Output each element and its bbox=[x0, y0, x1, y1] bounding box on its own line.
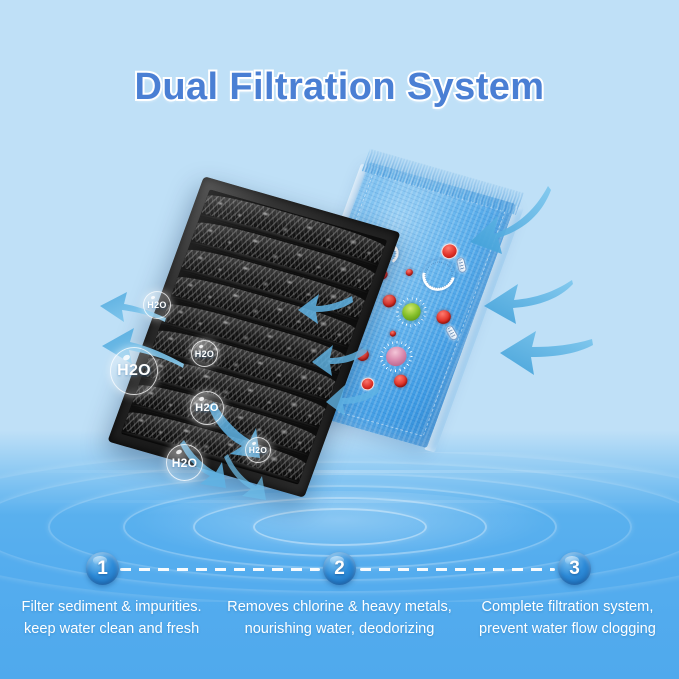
caption-line: prevent water flow clogging bbox=[460, 618, 675, 640]
h2o-bubble: H2O bbox=[190, 391, 224, 425]
h2o-bubble: H2O bbox=[245, 437, 271, 463]
step-caption-2: Removes chlorine & heavy metals, nourish… bbox=[223, 596, 456, 666]
internal-flow-arrow-icon bbox=[324, 380, 380, 422]
filter-assembly: H2O H2O H2O H2O H2O H2O bbox=[0, 0, 679, 560]
inflow-arrow-icon bbox=[498, 325, 594, 383]
h2o-bubble: H2O bbox=[166, 444, 203, 481]
h2o-bubble: H2O bbox=[143, 291, 171, 319]
step-number-3[interactable]: 3 bbox=[558, 552, 591, 585]
germ-purple-virus bbox=[381, 342, 412, 371]
caption-line: Filter sediment & impurities. bbox=[4, 596, 219, 618]
internal-flow-arrow-icon bbox=[296, 290, 354, 330]
h2o-bubble: H2O bbox=[110, 347, 158, 395]
step-caption-1: Filter sediment & impurities. keep water… bbox=[0, 596, 223, 666]
inflow-arrow-icon bbox=[468, 182, 552, 258]
infographic-canvas: Dual Filtration System bbox=[0, 0, 679, 679]
step-number-1[interactable]: 1 bbox=[86, 552, 119, 585]
step-number-2[interactable]: 2 bbox=[323, 552, 356, 585]
step-caption-3: Complete filtration system, prevent wate… bbox=[456, 596, 679, 666]
step-connector-dashed bbox=[120, 568, 320, 571]
step-connector-dashed bbox=[360, 568, 555, 571]
germ-green-spiky bbox=[397, 299, 426, 326]
caption-line: nourishing water, deodorizing bbox=[227, 618, 452, 640]
internal-flow-arrow-icon bbox=[310, 340, 368, 382]
caption-line: keep water clean and fresh bbox=[4, 618, 219, 640]
caption-line: Complete filtration system, bbox=[460, 596, 675, 618]
step-captions: Filter sediment & impurities. keep water… bbox=[0, 596, 679, 666]
h2o-bubble: H2O bbox=[191, 340, 218, 367]
inflow-arrow-icon bbox=[482, 272, 574, 328]
caption-line: Removes chlorine & heavy metals, bbox=[227, 596, 452, 618]
